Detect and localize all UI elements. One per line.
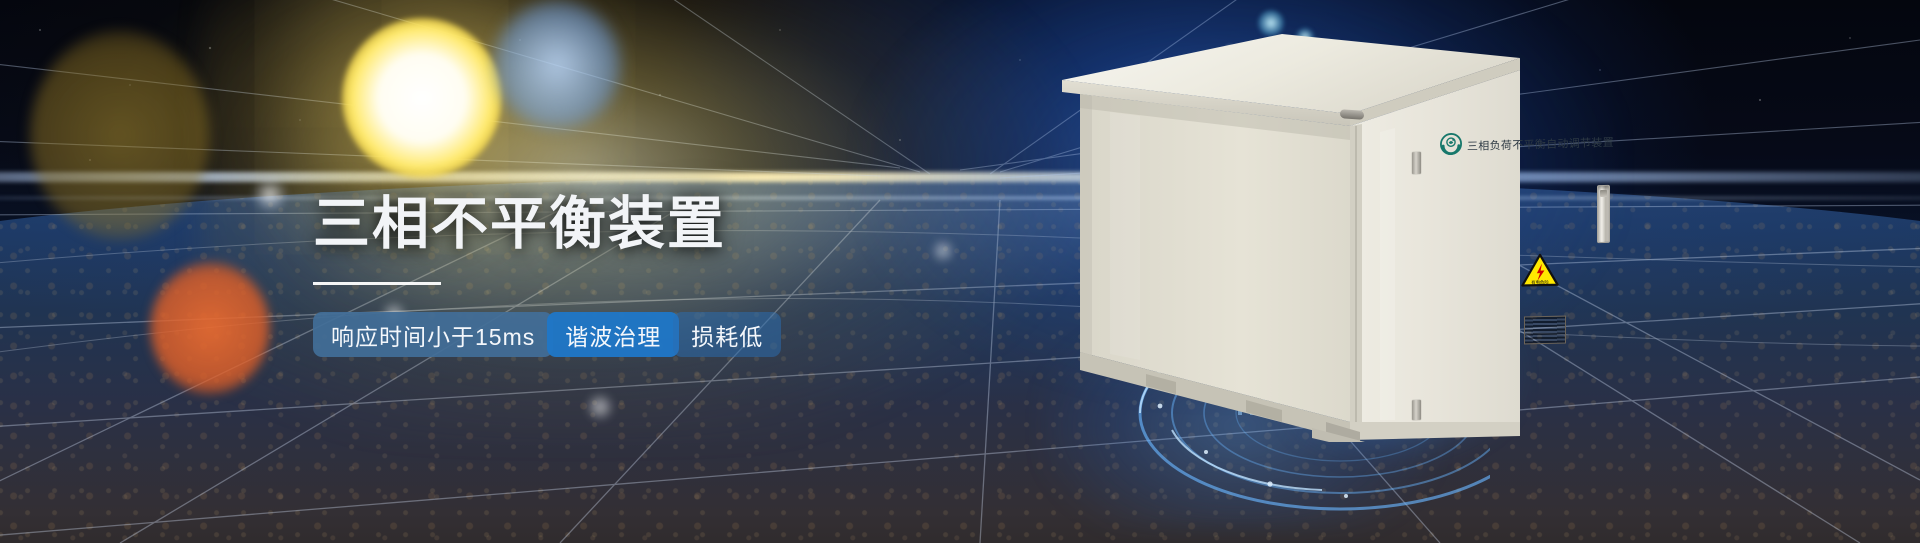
- cabinet-base-front: [1350, 422, 1520, 440]
- cabinet-hinge-top: [1412, 152, 1421, 174]
- network-grid-lines: [0, 0, 1920, 543]
- hero-banner: 三相负荷不平衡自动调节装置 有电危险 三相不平衡装置 响应时间小于15ms 谐波…: [0, 0, 1920, 543]
- feature-tag-harmonic-control[interactable]: 谐波治理: [547, 312, 679, 357]
- electrical-hazard-warning-label: 有电危险: [1521, 253, 1559, 288]
- company-seal-logo-icon: [1440, 133, 1462, 156]
- outdoor-cabinet: [1050, 22, 1520, 442]
- feature-tag-list: 响应时间小于15ms 谐波治理 损耗低: [313, 312, 933, 357]
- feature-tag-low-loss[interactable]: 损耗低: [673, 312, 781, 357]
- feature-tag-response-time[interactable]: 响应时间小于15ms: [313, 312, 553, 357]
- cabinet-left-edge: [1080, 94, 1092, 356]
- side-highlight: [1110, 112, 1140, 360]
- door-highlight: [1380, 128, 1395, 420]
- cabinet-door-handle[interactable]: [1597, 185, 1610, 243]
- cabinet-nameplate: 三相负荷不平衡自动调节装置: [1440, 133, 1614, 155]
- cabinet-nameplate-text: 三相负荷不平衡自动调节装置: [1467, 134, 1614, 154]
- banner-title: 三相不平衡装置: [313, 196, 933, 253]
- grid-svg: [0, 0, 1920, 543]
- cabinet-louver-vent: [1524, 316, 1566, 345]
- warning-triangle-icon: 有电危险: [1521, 253, 1559, 288]
- banner-copy-block: 三相不平衡装置 响应时间小于15ms 谐波治理 损耗低: [313, 196, 933, 357]
- cabinet-hinge-bottom: [1412, 400, 1421, 420]
- cabinet-side-latch: [1340, 109, 1364, 120]
- cabinet-svg: [1050, 22, 1520, 442]
- cabinet-front-door: [1350, 70, 1520, 422]
- title-divider: [313, 282, 441, 285]
